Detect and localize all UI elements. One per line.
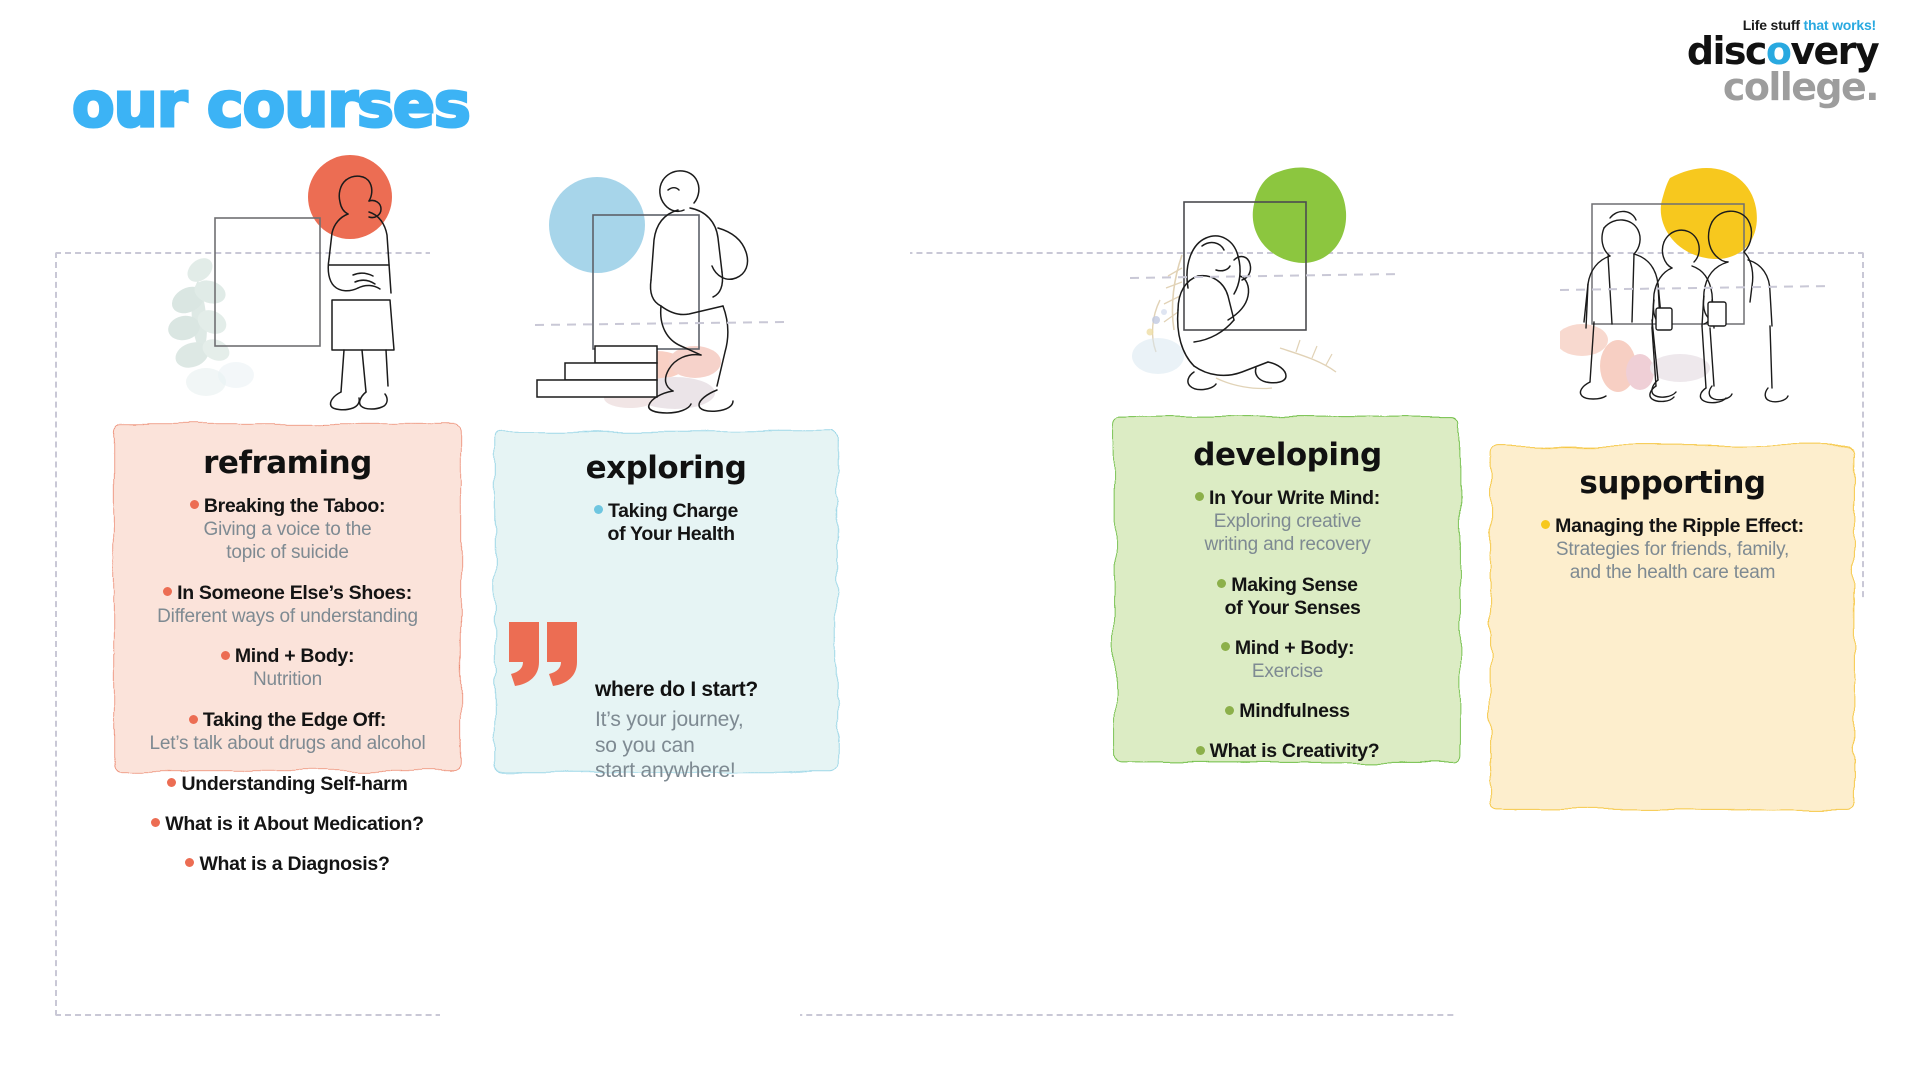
bullet-icon	[190, 500, 199, 509]
course-item[interactable]: Breaking the Taboo: Giving a voice to th…	[124, 495, 451, 565]
bullet-icon	[167, 778, 176, 787]
bullet-icon	[151, 818, 160, 827]
card-title: developing	[1124, 440, 1451, 471]
course-item[interactable]: Making Sense of Your Senses	[1124, 574, 1451, 620]
illustration-three-people-walking	[1560, 160, 1830, 420]
course-desc: Different ways of understanding	[124, 606, 451, 629]
course-item[interactable]: What is it About Medication?	[124, 813, 451, 836]
bullet-icon	[185, 858, 194, 867]
page-title: our courses	[72, 68, 470, 141]
course-name: Breaking the Taboo:	[124, 495, 451, 518]
course-name: Mind + Body:	[1124, 637, 1451, 660]
course-name: Mind + Body:	[124, 645, 451, 668]
course-item[interactable]: Taking Charge of Your Health	[504, 500, 828, 546]
card-title: supporting	[1499, 468, 1846, 499]
bullet-icon	[189, 715, 198, 724]
dashed-horizon	[1560, 286, 1830, 290]
course-item[interactable]: Mind + Body: Nutrition	[124, 645, 451, 692]
bullet-icon	[163, 587, 172, 596]
illustration-woman-standing	[150, 150, 440, 420]
bullet-icon	[1541, 520, 1550, 529]
course-desc: Nutrition	[124, 669, 451, 692]
steps	[537, 346, 657, 397]
course-desc: Let’s talk about drugs and alcohol	[124, 733, 451, 756]
course-item[interactable]: In Someone Else’s Shoes: Different ways …	[124, 582, 451, 629]
course-item[interactable]: Mind + Body: Exercise	[1124, 637, 1451, 684]
course-name: In Someone Else’s Shoes:	[124, 582, 451, 605]
quote-heading: where do I start?	[595, 678, 758, 702]
card-title: exploring	[504, 453, 828, 484]
course-desc: Giving a voice to thetopic of suicide	[124, 519, 451, 565]
bullet-icon	[1221, 642, 1230, 651]
illustration-person-climbing-steps	[535, 150, 785, 415]
green-blob	[1253, 167, 1346, 263]
course-desc: Exploring creativewriting and recovery	[1124, 511, 1451, 557]
dashed-frame-mask-right	[1455, 995, 1875, 1029]
course-item[interactable]: What is a Diagnosis?	[124, 853, 451, 876]
course-name: What is a Diagnosis?	[124, 853, 451, 876]
course-name: What is Creativity?	[1124, 740, 1451, 763]
dashed-frame-mask-left	[440, 995, 800, 1029]
blue-circle	[549, 177, 645, 273]
yellow-blob	[1661, 168, 1757, 259]
course-name: Understanding Self-harm	[124, 773, 451, 796]
logo-word-college: college.	[1648, 69, 1878, 105]
card-title: reframing	[124, 448, 451, 479]
course-card-reframing[interactable]: reframing Breaking the Taboo: Giving a v…	[110, 420, 465, 902]
coffee-cup-right	[1708, 302, 1726, 326]
course-desc: Exercise	[1124, 661, 1451, 684]
course-name: Taking the Edge Off:	[124, 709, 451, 732]
square-outline	[215, 218, 320, 346]
bullet-icon	[1217, 579, 1226, 588]
logo-word-discovery: discovery	[1648, 34, 1878, 69]
bullet-icon	[594, 505, 603, 514]
bullet-icon	[221, 651, 230, 660]
course-item[interactable]: What is Creativity?	[1124, 740, 1451, 763]
course-name: What is it About Medication?	[124, 813, 451, 836]
course-name: Mindfulness	[1124, 700, 1451, 723]
bullet-icon	[1225, 706, 1234, 715]
quote-body: It’s your journey,so you canstart anywhe…	[595, 707, 758, 784]
course-item[interactable]: Managing the Ripple Effect: Strategies f…	[1499, 515, 1846, 585]
course-card-exploring[interactable]: exploring Taking Charge of Your Health	[490, 425, 842, 572]
course-item[interactable]: Taking the Edge Off: Let’s talk about dr…	[124, 709, 451, 756]
course-card-developing[interactable]: developing In Your Write Mind: Exploring…	[1110, 412, 1465, 789]
illustration-person-sitting	[1130, 160, 1400, 410]
eucalyptus-foliage	[166, 253, 254, 396]
course-name: In Your Write Mind:	[1124, 487, 1451, 510]
quote-text: where do I start? It’s your journey,so y…	[595, 678, 758, 784]
coffee-cup-middle	[1656, 308, 1672, 330]
course-name: Taking Charge of Your Health	[504, 500, 828, 546]
course-card-supporting[interactable]: supporting Managing the Ripple Effect: S…	[1485, 440, 1860, 611]
course-item[interactable]: Mindfulness	[1124, 700, 1451, 723]
course-name: Managing the Ripple Effect:	[1499, 515, 1846, 538]
quotation-mark-icon	[505, 618, 585, 688]
course-item[interactable]: In Your Write Mind: Exploring creativewr…	[1124, 487, 1451, 557]
watercolor-splash	[1560, 324, 1710, 392]
slide-canvas: our courses Life stuff that works! disco…	[0, 0, 1920, 1080]
bullet-icon	[1196, 746, 1205, 755]
course-desc: Strategies for friends, family,and the h…	[1499, 539, 1846, 585]
course-item[interactable]: Understanding Self-harm	[124, 773, 451, 796]
course-name: Making Sense of Your Senses	[1124, 574, 1451, 620]
person-line-art	[1178, 236, 1286, 390]
discovery-college-logo: Life stuff that works! discovery college…	[1648, 18, 1878, 105]
bullet-icon	[1195, 492, 1204, 501]
dashed-horizon	[535, 322, 785, 325]
